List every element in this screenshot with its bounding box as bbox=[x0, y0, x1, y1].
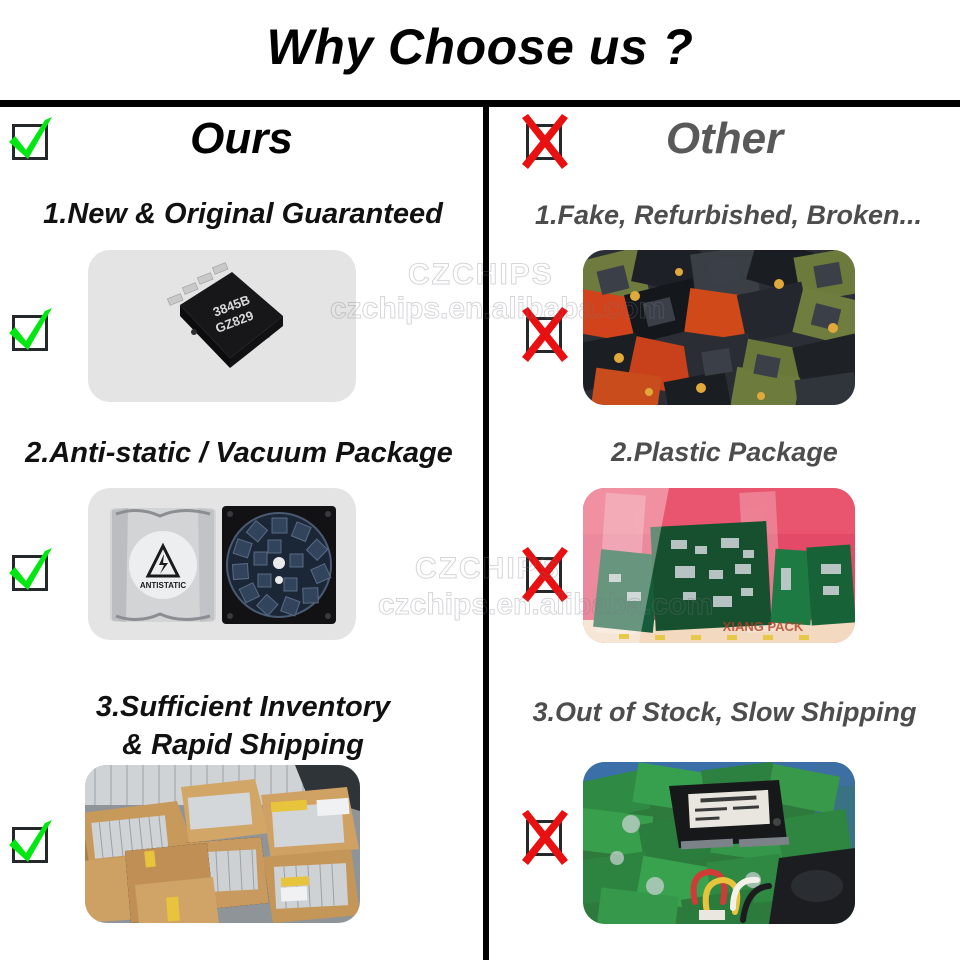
row-3-ours-label-line1: 3.Sufficient Inventory bbox=[96, 691, 390, 723]
cross-glyph bbox=[518, 808, 576, 866]
cross-glyph bbox=[518, 545, 576, 603]
green-check-icon bbox=[4, 303, 62, 361]
scrap-boards-pile-illustration bbox=[583, 762, 855, 924]
check-glyph bbox=[4, 112, 62, 170]
row-3-ours-photo bbox=[85, 765, 360, 923]
row-3-other-label: 3.Out of Stock, Slow Shipping bbox=[489, 697, 960, 728]
cross-glyph bbox=[518, 112, 576, 170]
ic-chip-illustration: 3845B GZ829 bbox=[150, 258, 300, 390]
green-check-icon bbox=[4, 543, 62, 601]
column-header-ours: Ours bbox=[0, 108, 483, 170]
pink-plastic-bag-boards-illustration: XIANG PACK bbox=[583, 488, 855, 643]
red-cross-icon bbox=[518, 112, 576, 170]
check-glyph bbox=[4, 815, 62, 873]
row-3-ours-label: 3.Sufficient Inventory & Rapid Shipping bbox=[8, 688, 478, 764]
check-glyph bbox=[4, 303, 62, 361]
row-2-ours-label: 2.Anti-static / Vacuum Package bbox=[0, 437, 478, 470]
row-1-other-label: 1.Fake, Refurbished, Broken... bbox=[497, 200, 960, 231]
page-title: Why Choose us ? bbox=[0, 18, 960, 76]
scrap-chips-illustration bbox=[583, 250, 855, 405]
antistatic-bag-and-reel-illustration: ANTISTATIC bbox=[108, 500, 338, 630]
green-check-icon bbox=[4, 815, 62, 873]
row-1-ours-photo: 3845B GZ829 bbox=[150, 258, 300, 390]
column-divider bbox=[483, 104, 489, 960]
header-divider bbox=[0, 100, 960, 107]
red-cross-icon bbox=[518, 808, 576, 866]
row-3-other-photo bbox=[583, 762, 855, 924]
watermark-brand: CZCHIPS bbox=[408, 258, 554, 292]
red-cross-icon bbox=[518, 305, 576, 363]
cross-glyph bbox=[518, 305, 576, 363]
bag-print-text: XIANG PACK bbox=[723, 619, 804, 634]
row-1-other-photo bbox=[583, 250, 855, 405]
row-2-ours-photo: ANTISTATIC bbox=[108, 500, 338, 630]
packed-boxes-illustration bbox=[85, 765, 360, 923]
row-1-ours-label: 1.New & Original Guaranteed bbox=[8, 198, 478, 231]
antistatic-label: ANTISTATIC bbox=[140, 581, 187, 590]
green-check-icon bbox=[4, 112, 62, 170]
row-2-other-label: 2.Plastic Package bbox=[489, 437, 960, 468]
why-choose-us-infographic: Why Choose us ? Ours Other bbox=[0, 0, 960, 960]
row-3-ours-label-line2: & Rapid Shipping bbox=[122, 729, 364, 761]
red-cross-icon bbox=[518, 545, 576, 603]
check-glyph bbox=[4, 543, 62, 601]
row-2-other-photo: XIANG PACK bbox=[583, 488, 855, 643]
